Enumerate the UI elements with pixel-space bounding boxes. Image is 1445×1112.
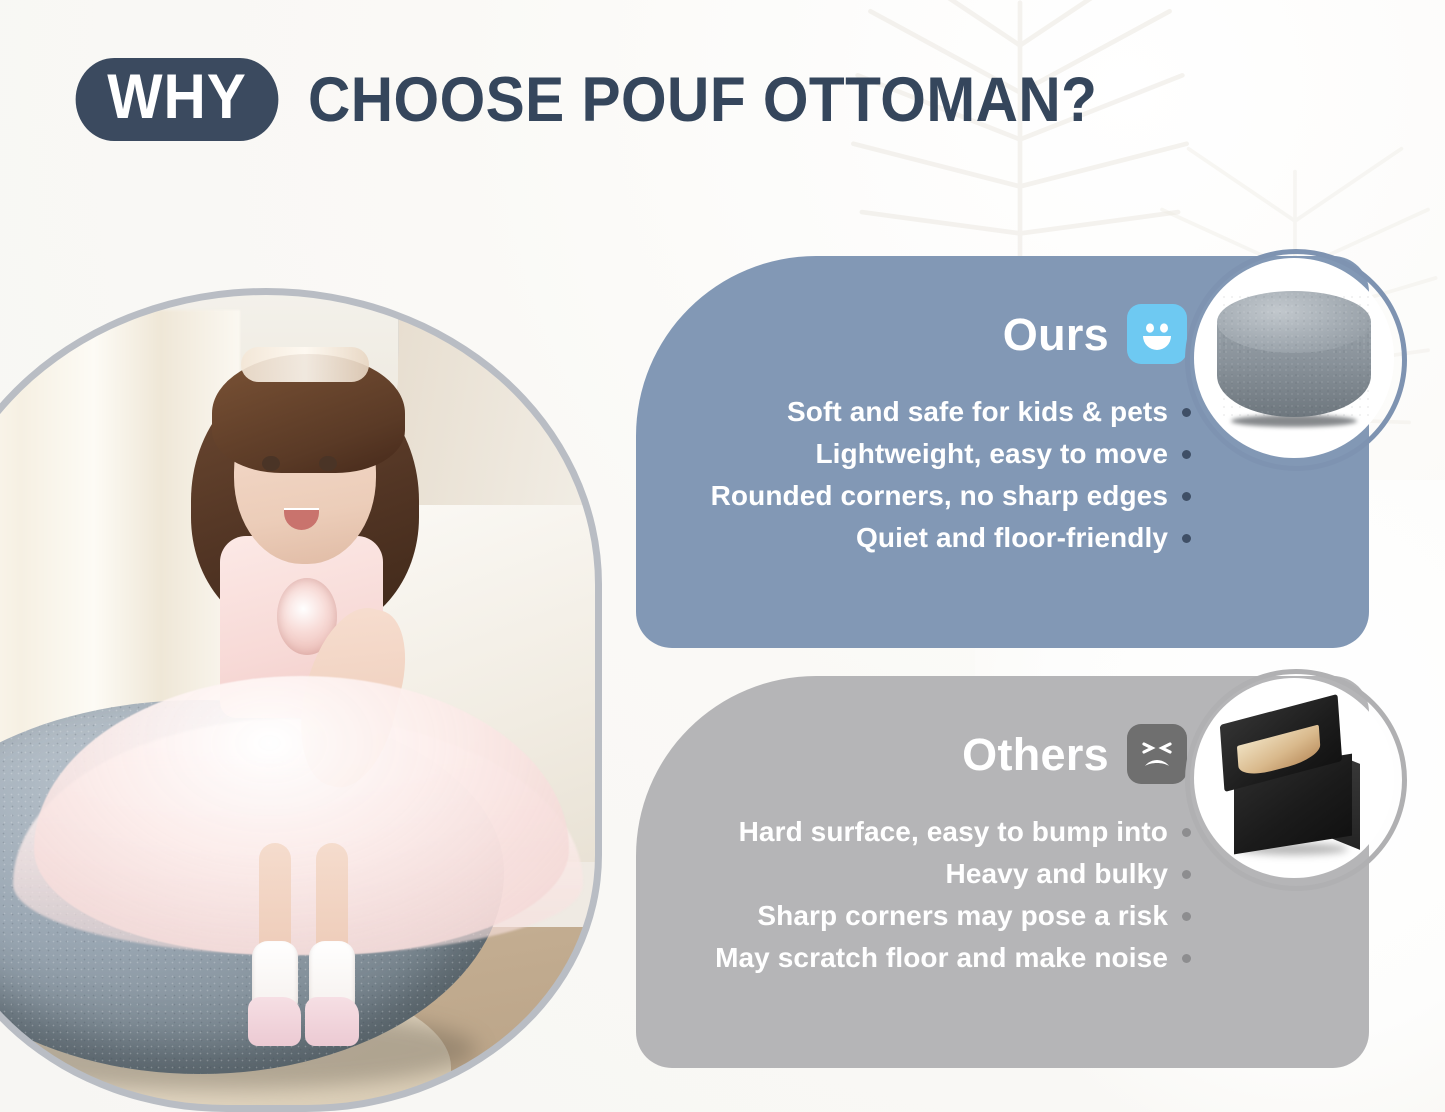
pouf-thumb-top [1217, 291, 1371, 353]
ours-bullet-label: Rounded corners, no sharp edges [711, 480, 1168, 512]
bullet-dot-icon [1182, 450, 1191, 459]
others-title: Others [962, 732, 1109, 777]
others-panel-header: Others [962, 724, 1187, 784]
ours-title: Ours [1003, 312, 1109, 357]
list-item: Rounded corners, no sharp edges [711, 480, 1191, 512]
list-item: Quiet and floor-friendly [856, 522, 1191, 554]
bullet-dot-icon [1182, 534, 1191, 543]
others-bullet-label: May scratch floor and make noise [715, 942, 1168, 974]
others-bullet-label: Sharp corners may pose a risk [757, 900, 1168, 932]
others-bullet-label: Heavy and bulky [946, 858, 1168, 890]
sad-face-icon [1127, 724, 1187, 784]
others-bullet-list: Hard surface, easy to bump into Heavy an… [715, 816, 1191, 974]
ours-panel-header: Ours [1003, 304, 1187, 364]
happy-face-icon [1127, 304, 1187, 364]
lifestyle-photo-outline [0, 288, 602, 1112]
why-badge: WHY [76, 58, 279, 141]
ours-bullet-list: Soft and safe for kids & pets Lightweigh… [711, 396, 1191, 554]
page-title: CHOOSE POUF OTTOMAN? [308, 64, 1097, 136]
list-item: Lightweight, easy to move [815, 438, 1191, 470]
bullet-dot-icon [1182, 828, 1191, 837]
black-square-storage-ottoman-thumbnail [1204, 693, 1384, 863]
page-header: WHY CHOOSE POUF OTTOMAN? [68, 58, 1157, 141]
ours-bullet-label: Lightweight, easy to move [815, 438, 1168, 470]
round-gray-pouf-thumbnail [1209, 283, 1379, 433]
others-bullet-label: Hard surface, easy to bump into [739, 816, 1168, 848]
list-item: May scratch floor and make noise [715, 942, 1191, 974]
list-item: Hard surface, easy to bump into [739, 816, 1191, 848]
others-product-thumbnail [1194, 678, 1394, 878]
pouf-thumb-top-texture [1217, 291, 1371, 353]
list-item: Sharp corners may pose a risk [757, 900, 1191, 932]
bullet-dot-icon [1182, 912, 1191, 921]
ours-product-thumbnail [1194, 258, 1394, 458]
bullet-dot-icon [1182, 954, 1191, 963]
list-item: Soft and safe for kids & pets [787, 396, 1191, 428]
ours-bullet-label: Quiet and floor-friendly [856, 522, 1168, 554]
bullet-dot-icon [1182, 870, 1191, 879]
lifestyle-photo [0, 288, 602, 1112]
bullet-dot-icon [1182, 492, 1191, 501]
ours-bullet-label: Soft and safe for kids & pets [787, 396, 1168, 428]
list-item: Heavy and bulky [946, 858, 1191, 890]
bullet-dot-icon [1182, 408, 1191, 417]
